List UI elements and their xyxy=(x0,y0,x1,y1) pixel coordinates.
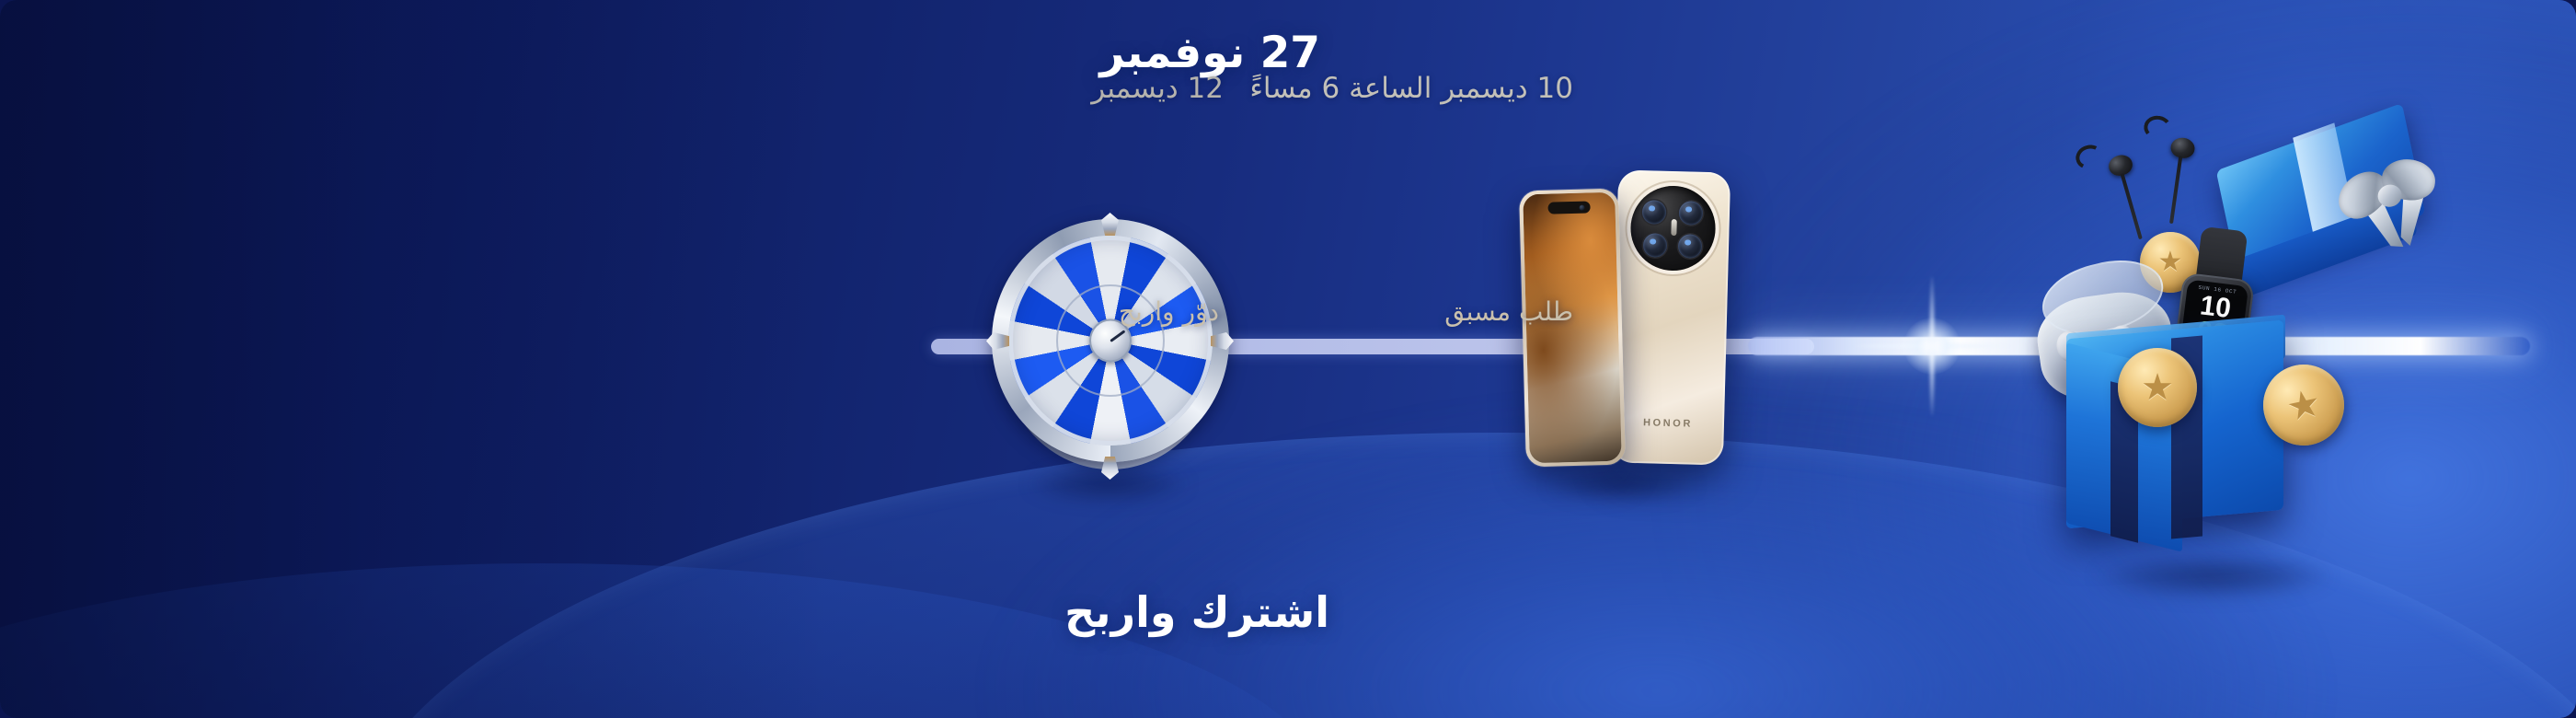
earphone-hook xyxy=(2143,114,2173,142)
smartphone-front-icon[interactable] xyxy=(1519,189,1626,468)
camera-lens-4 xyxy=(1678,234,1703,259)
camera-module xyxy=(1629,185,1716,272)
step-date-pre-order: 10 ديسمبر الساعة 6 مساءً xyxy=(1249,72,1573,105)
phone-notch xyxy=(1547,201,1590,214)
smartphone-back-icon[interactable]: HONOR xyxy=(1611,169,1731,465)
step-label-spin-and-win: دوّر واربح xyxy=(1119,296,1219,327)
camera-lens-1 xyxy=(1642,200,1667,225)
camera-lens-2 xyxy=(1679,201,1704,226)
launch-date-headline: 27 نوفمبر xyxy=(1099,28,1320,78)
earphone-wire xyxy=(2121,173,2143,239)
prize-wheel-icon[interactable] xyxy=(992,212,1229,479)
phone-screen-wallpaper xyxy=(1523,192,1622,464)
coin-star-icon: ★ xyxy=(2283,383,2324,427)
subscribe-and-win-headline: اشترك واربح xyxy=(1064,587,1329,637)
wheel-face xyxy=(1008,236,1213,446)
step-date-spin-and-win: 12 ديسمبر xyxy=(1091,72,1224,105)
gold-coin-center: ★ xyxy=(2118,348,2197,427)
earphone-hook xyxy=(2073,142,2106,172)
phone-shadow xyxy=(1523,463,1720,507)
camera-flash xyxy=(1671,219,1676,236)
phone-brand-logo: HONOR xyxy=(1643,417,1693,429)
camera-lens-3 xyxy=(1643,233,1668,258)
step-label-pre-order: طلب مسبق xyxy=(1444,296,1573,327)
earphone-wire xyxy=(2169,156,2182,224)
campaign-timeline-banner: HONOR ★ xyxy=(0,0,2576,718)
wheel-pointer-hand xyxy=(1110,330,1125,342)
coin-star-icon: ★ xyxy=(2141,369,2174,406)
gift-box-scene-icon[interactable]: ★ SUN 16 OCT 10 08 17846 ★ xyxy=(2033,110,2420,571)
earphone-bud xyxy=(2169,136,2196,159)
left-vignette xyxy=(0,0,828,718)
